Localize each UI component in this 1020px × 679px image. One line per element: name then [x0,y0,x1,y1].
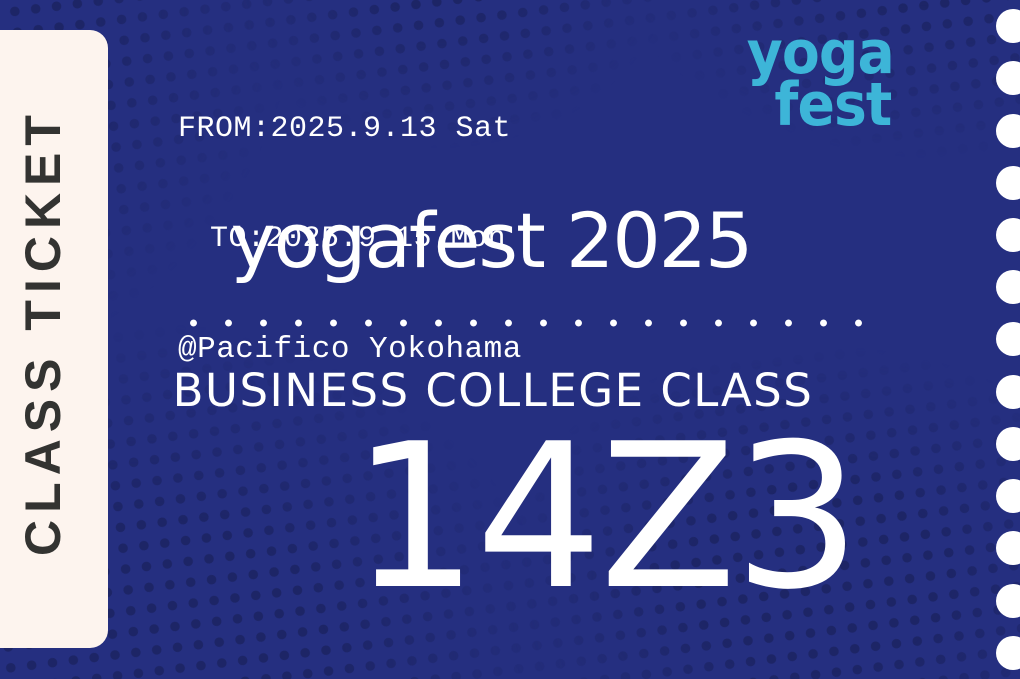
perforation-hole [996,218,1020,252]
event-venue: @Pacifico Yokohama [178,331,522,369]
perforation-hole [996,166,1020,200]
class-ticket: CLASS TICKET FROM:2025.9.13 Sat TO:2025.… [0,0,1020,679]
perforation-hole [996,375,1020,409]
dotted-divider [176,318,866,328]
event-headline: yogafest 2025 [120,196,880,285]
perforation-hole [996,427,1020,461]
perforation-hole [996,322,1020,356]
ticket-body: FROM:2025.9.13 Sat TO:2025.9.15 Mon @Pac… [120,0,880,679]
perforation-hole [996,61,1020,95]
ticket-stub: CLASS TICKET [0,30,108,648]
perforation-hole [996,9,1020,43]
perforation-hole [996,270,1020,304]
perforation-hole [996,531,1020,565]
ticket-code: 14Z3 [351,418,858,618]
perforation-hole [996,584,1020,618]
perforation-edge [993,0,1020,679]
perforation-hole [996,114,1020,148]
perforation-hole [996,636,1020,670]
event-date-from: FROM:2025.9.13 Sat [178,111,522,148]
perforation-hole [996,479,1020,513]
stub-label: CLASS TICKET [14,108,72,570]
yogafest-logo: yoga fest [747,28,894,131]
